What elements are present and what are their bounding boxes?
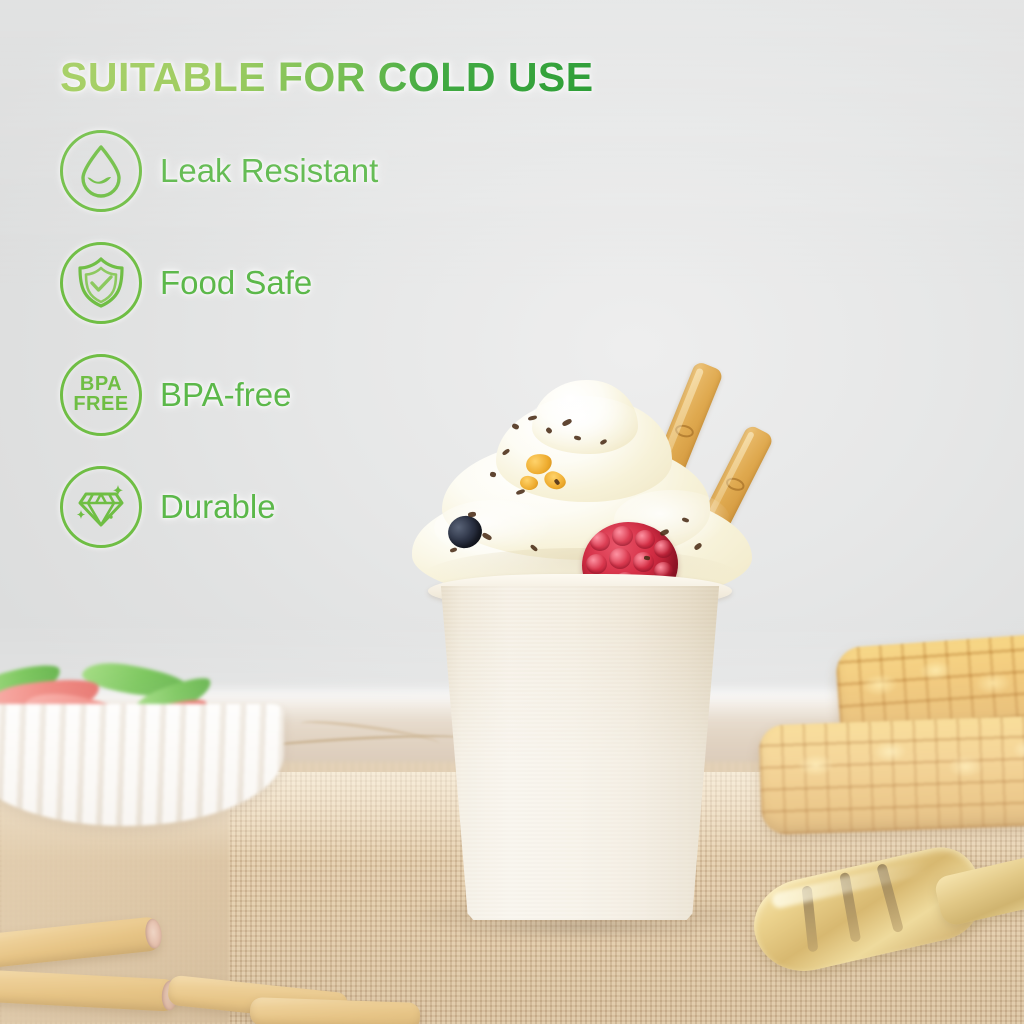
- feature-durable: Durable: [60, 466, 490, 548]
- page-title: SUITABLE FOR COLD USE: [60, 54, 594, 101]
- cup-base-shading: [462, 924, 696, 940]
- liner-flutes: [0, 704, 284, 826]
- feature-leak-resistant: Leak Resistant: [60, 130, 490, 212]
- cup-paper-texture: [432, 586, 728, 920]
- feature-label: Leak Resistant: [160, 152, 378, 190]
- feature-label: Durable: [160, 488, 276, 526]
- feature-list: Leak Resistant Food Safe BPA FREE BPA-fr…: [60, 130, 490, 578]
- feature-food-safe: Food Safe: [60, 242, 490, 324]
- feature-label: Food Safe: [160, 264, 312, 302]
- product-marketing-image: SUITABLE FOR COLD USE Leak Resistant Foo…: [0, 0, 1024, 1024]
- water-drop-icon: [60, 130, 142, 212]
- chocolate-shaving: [644, 556, 650, 561]
- bpa-line-2: FREE: [73, 395, 128, 415]
- diamond-sparkle-icon: [60, 466, 142, 548]
- cup-body: [432, 586, 728, 920]
- bpa-badge: BPA FREE: [73, 375, 128, 415]
- cupcake-liner: [0, 656, 294, 826]
- cream-highlight: [524, 396, 644, 456]
- feature-bpa-free: BPA FREE BPA-free: [60, 354, 490, 436]
- shield-check-icon: [60, 242, 142, 324]
- feature-label: BPA-free: [160, 376, 291, 414]
- bpa-free-icon: BPA FREE: [60, 354, 142, 436]
